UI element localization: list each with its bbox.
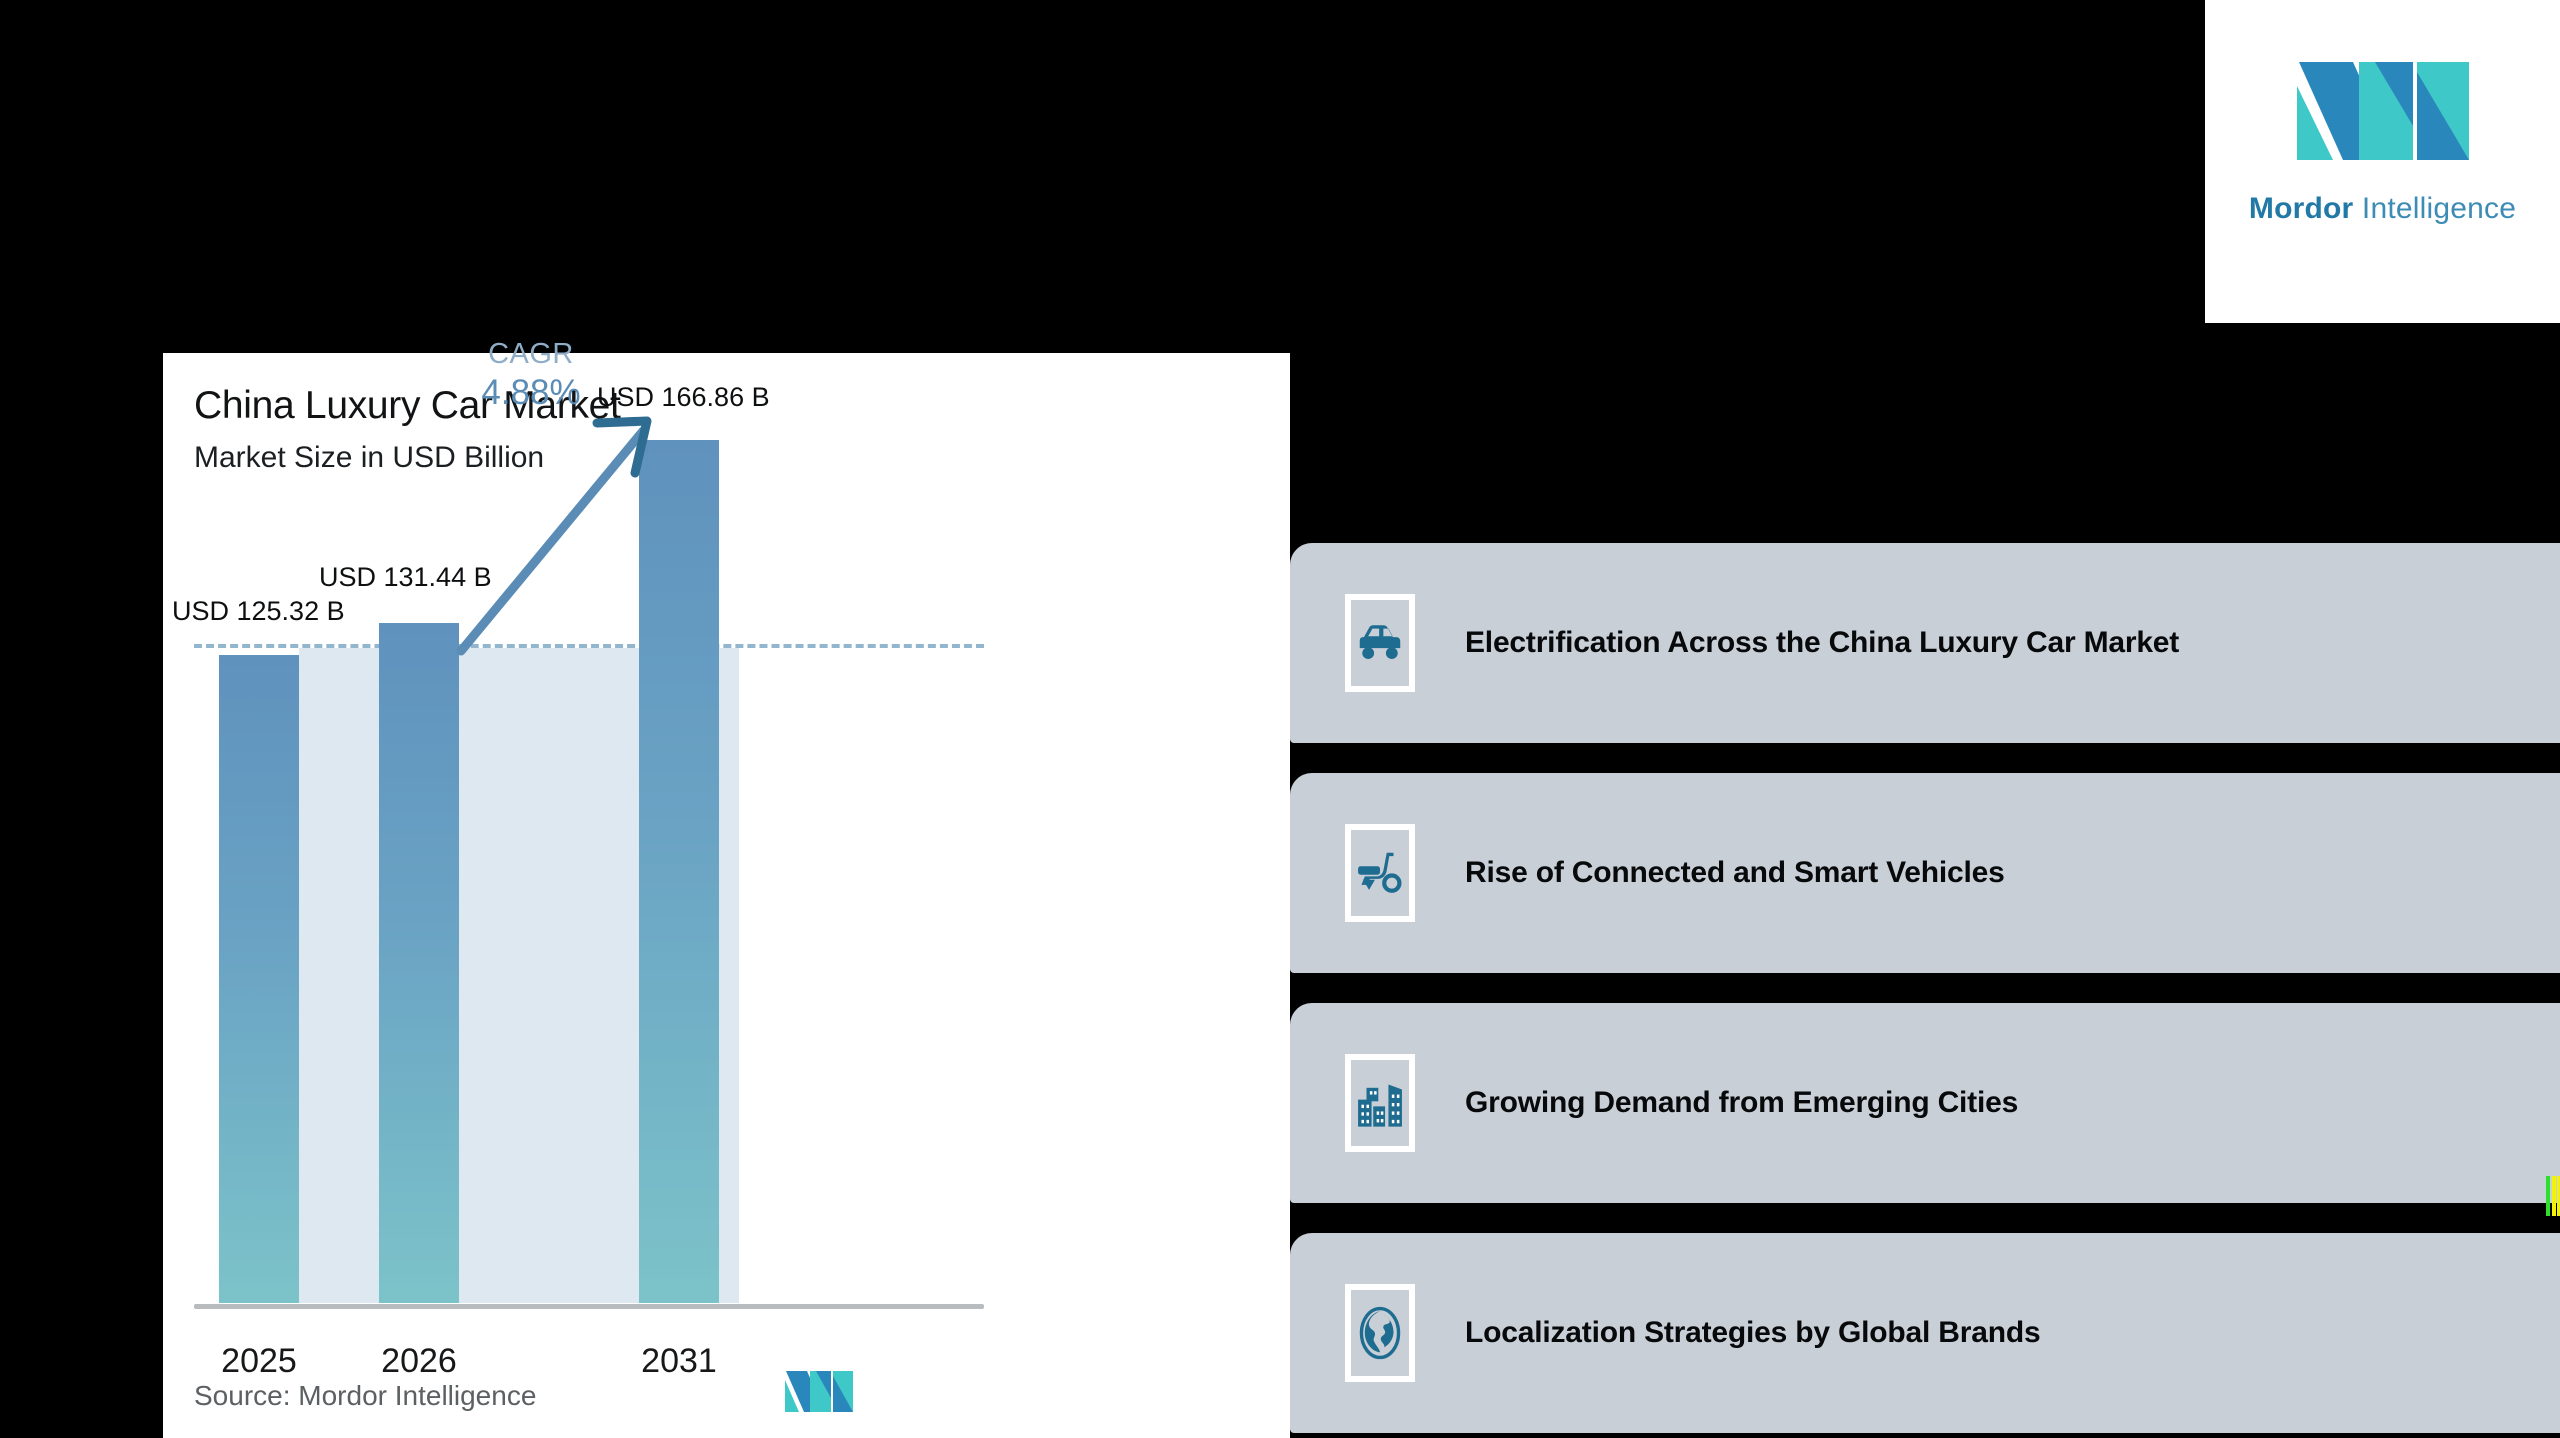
brand-wordmark-regular: Intelligence xyxy=(2353,192,2516,225)
chart-panel: China Luxury Car Market Market Size in U… xyxy=(163,353,1290,1438)
buildings-icon xyxy=(1345,1054,1415,1152)
data-label-2025: USD 125.32 B xyxy=(172,596,345,627)
scooter-icon xyxy=(1345,824,1415,922)
growth-arrow-icon xyxy=(457,407,657,657)
list-item[interactable]: Electrification Across the China Luxury … xyxy=(1290,543,2560,743)
source-note: Source: Mordor Intelligence xyxy=(194,1380,536,1412)
edge-color-stripe xyxy=(2546,1176,2560,1216)
x-tick-2026: 2026 xyxy=(349,1342,489,1381)
highlights-list: Electrification Across the China Luxury … xyxy=(1290,543,2560,1433)
x-axis-line xyxy=(194,1304,984,1309)
brand-wordmark-bold: Mordor xyxy=(2249,192,2354,225)
list-item-label: Growing Demand from Emerging Cities xyxy=(1465,1086,2018,1120)
redacted-heading xyxy=(1335,394,2560,478)
source-mordor-logo-icon xyxy=(783,1368,855,1416)
brand-wordmark: Mordor Intelligence xyxy=(2249,192,2516,226)
brand-logo-plate: Mordor Intelligence xyxy=(2205,0,2560,323)
list-item[interactable]: Rise of Connected and Smart Vehicles xyxy=(1290,773,2560,973)
mordor-intelligence-logo-icon xyxy=(2293,56,2473,176)
cagr-annotation: CAGR 4.88% xyxy=(451,338,611,413)
bar-2025 xyxy=(219,655,299,1303)
bar-2026 xyxy=(379,623,459,1303)
list-item[interactable]: Growing Demand from Emerging Cities xyxy=(1290,1003,2560,1203)
cagr-label: CAGR xyxy=(451,338,611,371)
bar-chart-plot: USD 125.32 B USD 131.44 B USD 166.86 B C… xyxy=(194,543,984,1303)
list-item[interactable]: Localization Strategies by Global Brands xyxy=(1290,1233,2560,1433)
x-tick-2031: 2031 xyxy=(609,1342,749,1381)
list-item-label: Electrification Across the China Luxury … xyxy=(1465,626,2179,660)
slide-canvas: Mordor Intelligence China Luxury Car Mar… xyxy=(0,0,2560,1438)
globe-icon xyxy=(1345,1284,1415,1382)
car-icon xyxy=(1345,594,1415,692)
x-tick-2025: 2025 xyxy=(189,1342,329,1381)
list-item-label: Localization Strategies by Global Brands xyxy=(1465,1316,2040,1350)
list-item-label: Rise of Connected and Smart Vehicles xyxy=(1465,856,2005,890)
